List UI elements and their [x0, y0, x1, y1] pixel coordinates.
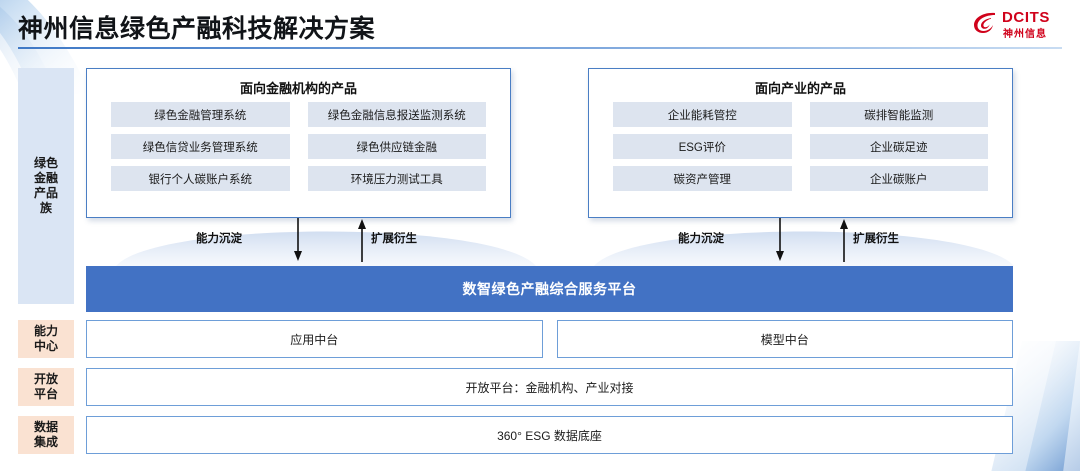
product-item[interactable]: 绿色供应链金融 [308, 134, 487, 159]
product-panel-industry: 面向产业的产品 企业能耗管控 碳排智能监测 ESG评价 企业碳足迹 碳资产管理 … [588, 68, 1013, 218]
product-item[interactable]: 绿色信贷业务管理系统 [111, 134, 290, 159]
rail-open-line-1: 开放 [34, 372, 58, 387]
rail-ability-line-2: 中心 [34, 339, 58, 354]
product-item[interactable]: 环境压力测试工具 [308, 166, 487, 191]
product-grid-industry: 企业能耗管控 碳排智能监测 ESG评价 企业碳足迹 碳资产管理 企业碳账户 [613, 102, 988, 191]
product-grid-financial-institutions: 绿色金融管理系统 绿色金融信息报送监测系统 绿色信贷业务管理系统 绿色供应链金融… [111, 102, 486, 191]
product-item[interactable]: 企业碳足迹 [810, 134, 989, 159]
product-item[interactable]: ESG评价 [613, 134, 792, 159]
panel-title-industry: 面向产业的产品 [589, 78, 1012, 97]
slide-header: 神州信息绿色产融科技解决方案 DCITS 神州信息 [0, 0, 1080, 52]
rail-label-ability-center: 能力 中心 [18, 320, 74, 358]
product-item[interactable]: 银行个人碳账户系统 [111, 166, 290, 191]
flow-label-capability-precipitation: 能力沉淀 [196, 230, 242, 246]
arrow-down-icon [774, 218, 786, 262]
slide-canvas: 神州信息绿色产融科技解决方案 DCITS 神州信息 绿色 金融 产品 族 能力 … [0, 0, 1080, 471]
flow-label-extension-derivation: 扩展衍生 [371, 230, 417, 246]
product-item[interactable]: 企业碳账户 [810, 166, 989, 191]
product-item[interactable]: 绿色金融信息报送监测系统 [308, 102, 487, 127]
arrow-down-icon [292, 218, 304, 262]
product-item[interactable]: 碳资产管理 [613, 166, 792, 191]
page-title: 神州信息绿色产融科技解决方案 [18, 9, 375, 45]
rail-data-line-1: 数据 [34, 420, 58, 435]
rail-green-line-3: 产品 [34, 186, 58, 201]
title-divider [18, 47, 1062, 49]
layer-row-ability-center: 应用中台 模型中台 [86, 320, 1013, 358]
product-panel-financial-institutions: 面向金融机构的产品 绿色金融管理系统 绿色金融信息报送监测系统 绿色信贷业务管理… [86, 68, 511, 218]
layer-box-open-platform[interactable]: 开放平台：金融机构、产业对接 [86, 368, 1013, 406]
rail-open-line-2: 平台 [34, 387, 58, 402]
panel-title-financial-institutions: 面向金融机构的产品 [87, 78, 510, 97]
flow-label-extension-derivation: 扩展衍生 [853, 230, 899, 246]
platform-bar[interactable]: 数智绿色产融综合服务平台 [86, 266, 1013, 312]
layer-box-model-middle-platform[interactable]: 模型中台 [557, 320, 1014, 358]
dcits-swirl-icon [972, 11, 998, 35]
product-item[interactable]: 企业能耗管控 [613, 102, 792, 127]
product-item[interactable]: 绿色金融管理系统 [111, 102, 290, 127]
layer-box-application-middle-platform[interactable]: 应用中台 [86, 320, 543, 358]
arrow-up-icon [356, 218, 368, 262]
flow-arc-left [116, 214, 536, 266]
rail-green-line-2: 金融 [34, 171, 58, 186]
rail-label-green-finance-family: 绿色 金融 产品 族 [18, 68, 74, 304]
rail-green-line-4: 族 [34, 201, 58, 216]
logo-text-cn: 神州信息 [1003, 25, 1047, 40]
rail-data-line-2: 集成 [34, 435, 58, 450]
arrow-up-icon [838, 218, 850, 262]
logo-text-en: DCITS [1002, 9, 1050, 26]
brand-logo: DCITS 神州信息 [972, 8, 1068, 42]
flow-band: 能力沉淀 扩展衍生 能力沉淀 [86, 214, 1013, 266]
flow-arc-right [594, 214, 1014, 266]
rail-label-data-integration: 数据 集成 [18, 416, 74, 454]
rail-green-line-1: 绿色 [34, 156, 58, 171]
rail-label-open-platform: 开放 平台 [18, 368, 74, 406]
layer-row-open-platform: 开放平台：金融机构、产业对接 [86, 368, 1013, 406]
layer-row-data-integration: 360° ESG 数据底座 [86, 416, 1013, 454]
layer-box-esg-data-base[interactable]: 360° ESG 数据底座 [86, 416, 1013, 454]
product-item[interactable]: 碳排智能监测 [810, 102, 989, 127]
flow-label-capability-precipitation: 能力沉淀 [678, 230, 724, 246]
rail-ability-line-1: 能力 [34, 324, 58, 339]
